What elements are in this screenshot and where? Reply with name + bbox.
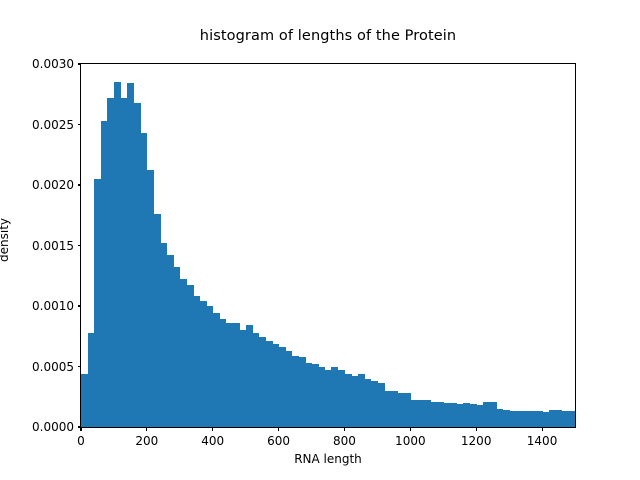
x-tick-label: 1200 (461, 433, 492, 449)
x-tick-mark (80, 427, 81, 431)
y-axis-label: density (4, 196, 18, 240)
matplotlib-figure: histogram of lengths of the Protein 0.00… (0, 0, 640, 480)
y-axis-label-text: density (0, 218, 11, 262)
x-tick-mark (476, 427, 477, 431)
plot-axes-area: 0.00000.00050.00100.00150.00200.00250.00… (80, 63, 576, 428)
y-tick-label: 0.0000 (32, 419, 74, 435)
x-tick-mark (344, 427, 345, 431)
x-tick-mark (146, 427, 147, 431)
y-tick-label: 0.0030 (32, 56, 74, 72)
x-tick-label: 200 (135, 433, 158, 449)
chart-title: histogram of lengths of the Protein (80, 28, 576, 44)
histogram-bars (81, 64, 575, 427)
histogram-bar (568, 411, 575, 427)
y-tick-label: 0.0025 (32, 117, 74, 133)
y-tick-label: 0.0020 (32, 177, 74, 193)
x-tick-mark (410, 427, 411, 431)
y-tick-label: 0.0005 (32, 359, 74, 375)
x-tick-label: 1000 (395, 433, 426, 449)
x-tick-label: 400 (201, 433, 224, 449)
x-tick-mark (542, 427, 543, 431)
x-tick-label: 600 (267, 433, 290, 449)
x-tick-label: 0 (77, 433, 85, 449)
x-axis-label: RNA length (80, 452, 576, 466)
y-tick-label: 0.0010 (32, 298, 74, 314)
x-tick-mark (212, 427, 213, 431)
y-tick-label: 0.0015 (32, 238, 74, 254)
x-tick-label: 800 (333, 433, 356, 449)
x-tick-label: 1400 (527, 433, 558, 449)
x-tick-mark (278, 427, 279, 431)
